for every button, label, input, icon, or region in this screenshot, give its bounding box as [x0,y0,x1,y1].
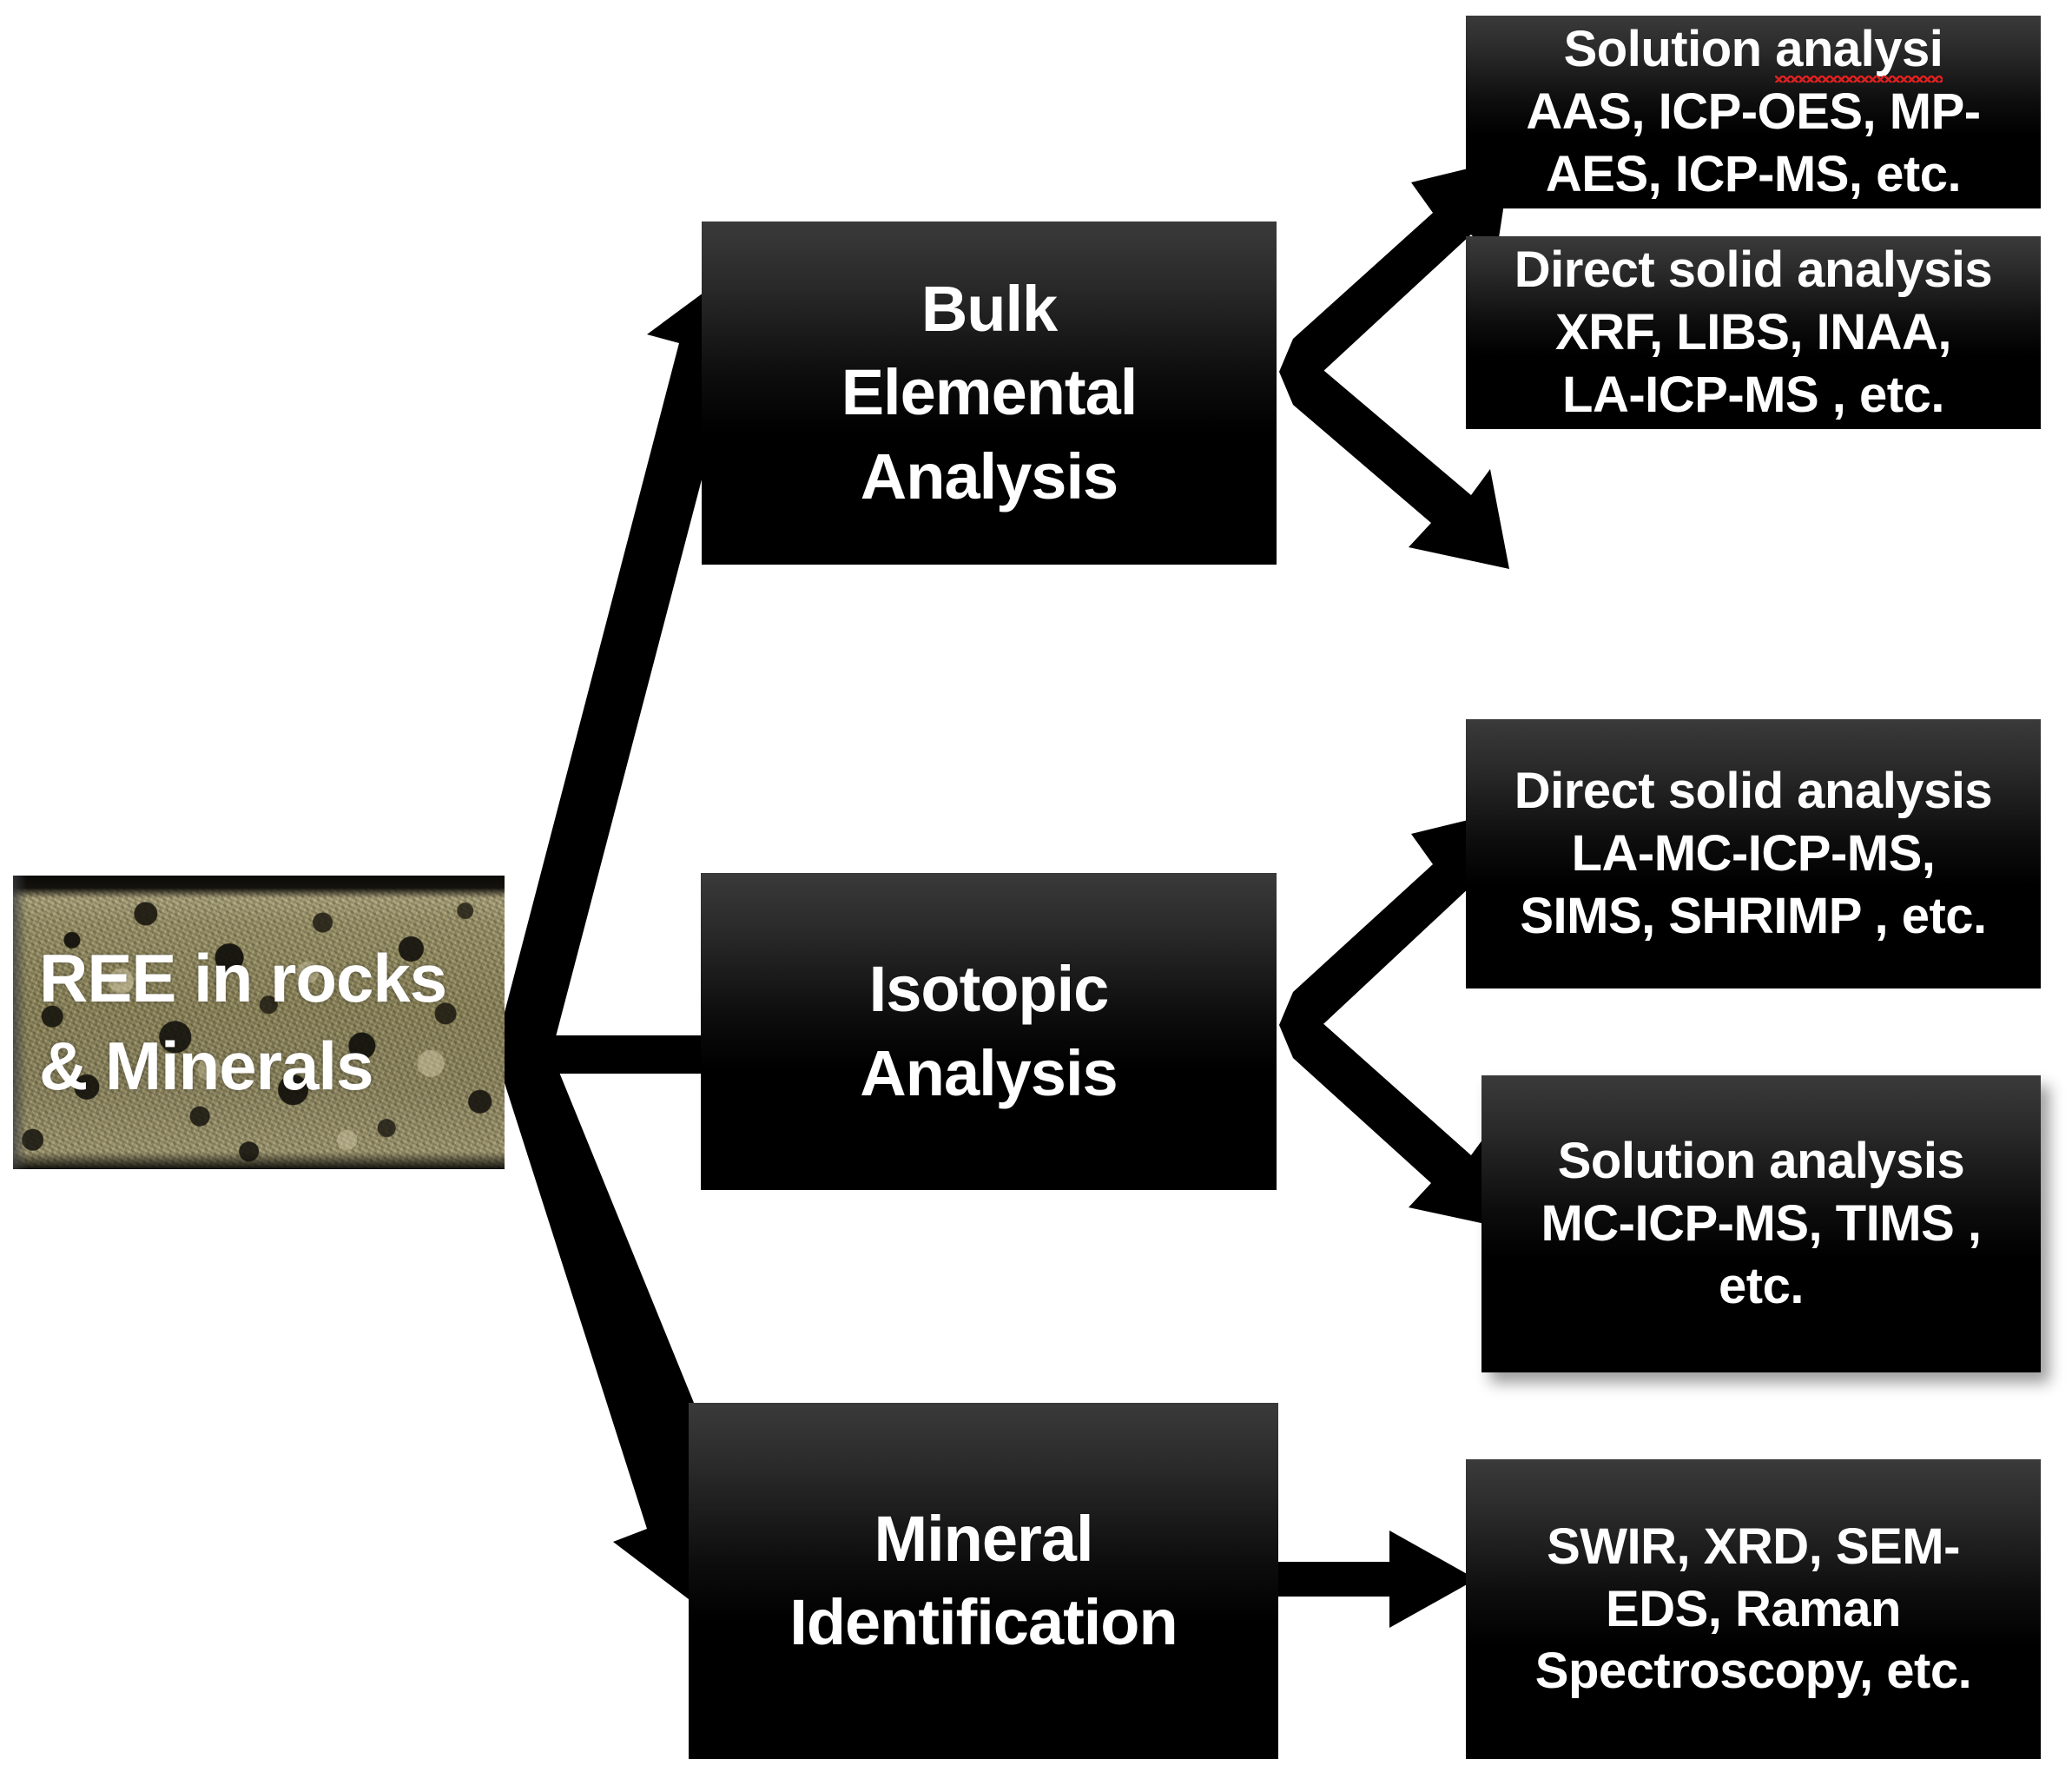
solution-iso-line-1: Solution analysis [1558,1130,1965,1193]
solution-bulk-line-1: Solution analysi [1564,18,1943,81]
mineral-tech-line-2: EDS, Raman [1606,1578,1901,1641]
mineral-line-2: Identification [789,1581,1177,1664]
solution-iso-line-3: etc. [1719,1255,1804,1318]
node-bulk-elemental-analysis[interactable]: Bulk Elemental Analysis [702,221,1277,565]
arrow-isotopic-to-solution [1279,1015,1509,1229]
arrow-mineral-to-techniques [1278,1531,1476,1628]
node-solution-analysis-bulk[interactable]: Solution analysi AAS, ICP-OES, MP- AES, … [1466,16,2041,208]
node-mineral-identification[interactable]: Mineral Identification [689,1403,1278,1759]
isotopic-line-1: Isotopic [869,948,1109,1031]
solution-bulk-line-2: AAS, ICP-OES, MP- [1526,81,1980,143]
direct-solid-bulk-line-3: LA-ICP-MS , etc. [1562,364,1944,426]
node-mineral-id-techniques[interactable]: SWIR, XRD, SEM- EDS, Raman Spectroscopy,… [1466,1459,2041,1759]
bulk-line-1: Bulk [921,268,1057,351]
rock-label-line-1: REE in rocks [39,935,505,1022]
direct-solid-iso-line-3: SIMS, SHRIMP , etc. [1520,885,1986,948]
direct-solid-bulk-line-2: XRF, LIBS, INAA, [1555,301,1951,364]
mineral-tech-line-1: SWIR, XRD, SEM- [1547,1516,1960,1578]
rock-sample-image: REE in rocks & Minerals [13,876,505,1169]
bulk-line-3: Analysis [861,435,1118,519]
solution-bulk-line-1-prefix: Solution [1564,21,1776,77]
rock-label-line-2: & Minerals [39,1022,505,1110]
node-direct-solid-analysis-bulk[interactable]: Direct solid analysis XRF, LIBS, INAA, L… [1466,236,2041,429]
diagram-canvas: REE in rocks & Minerals Bulk Elemental A… [0,0,2072,1772]
direct-solid-iso-line-2: LA-MC-ICP-MS, [1572,823,1936,885]
solution-iso-line-2: MC-ICP-MS, TIMS , [1541,1193,1981,1255]
direct-solid-iso-line-1: Direct solid analysis [1514,760,1992,823]
mineral-tech-line-3: Spectroscopy, etc. [1535,1640,1971,1703]
node-solution-analysis-isotopic[interactable]: Solution analysis MC-ICP-MS, TIMS , etc. [1481,1075,2041,1372]
mineral-line-1: Mineral [874,1498,1092,1581]
rock-sample-label: REE in rocks & Minerals [13,876,505,1169]
solution-bulk-line-3: AES, ICP-MS, etc. [1546,143,1961,206]
node-direct-solid-analysis-isotopic[interactable]: Direct solid analysis LA-MC-ICP-MS, SIMS… [1466,719,2041,988]
isotopic-line-2: Analysis [860,1032,1117,1115]
spellcheck-squiggle-analysi: analysi [1775,18,1943,81]
direct-solid-bulk-line-1: Direct solid analysis [1514,239,1992,301]
node-isotopic-analysis[interactable]: Isotopic Analysis [701,873,1277,1190]
bulk-line-2: Elemental [841,351,1138,434]
